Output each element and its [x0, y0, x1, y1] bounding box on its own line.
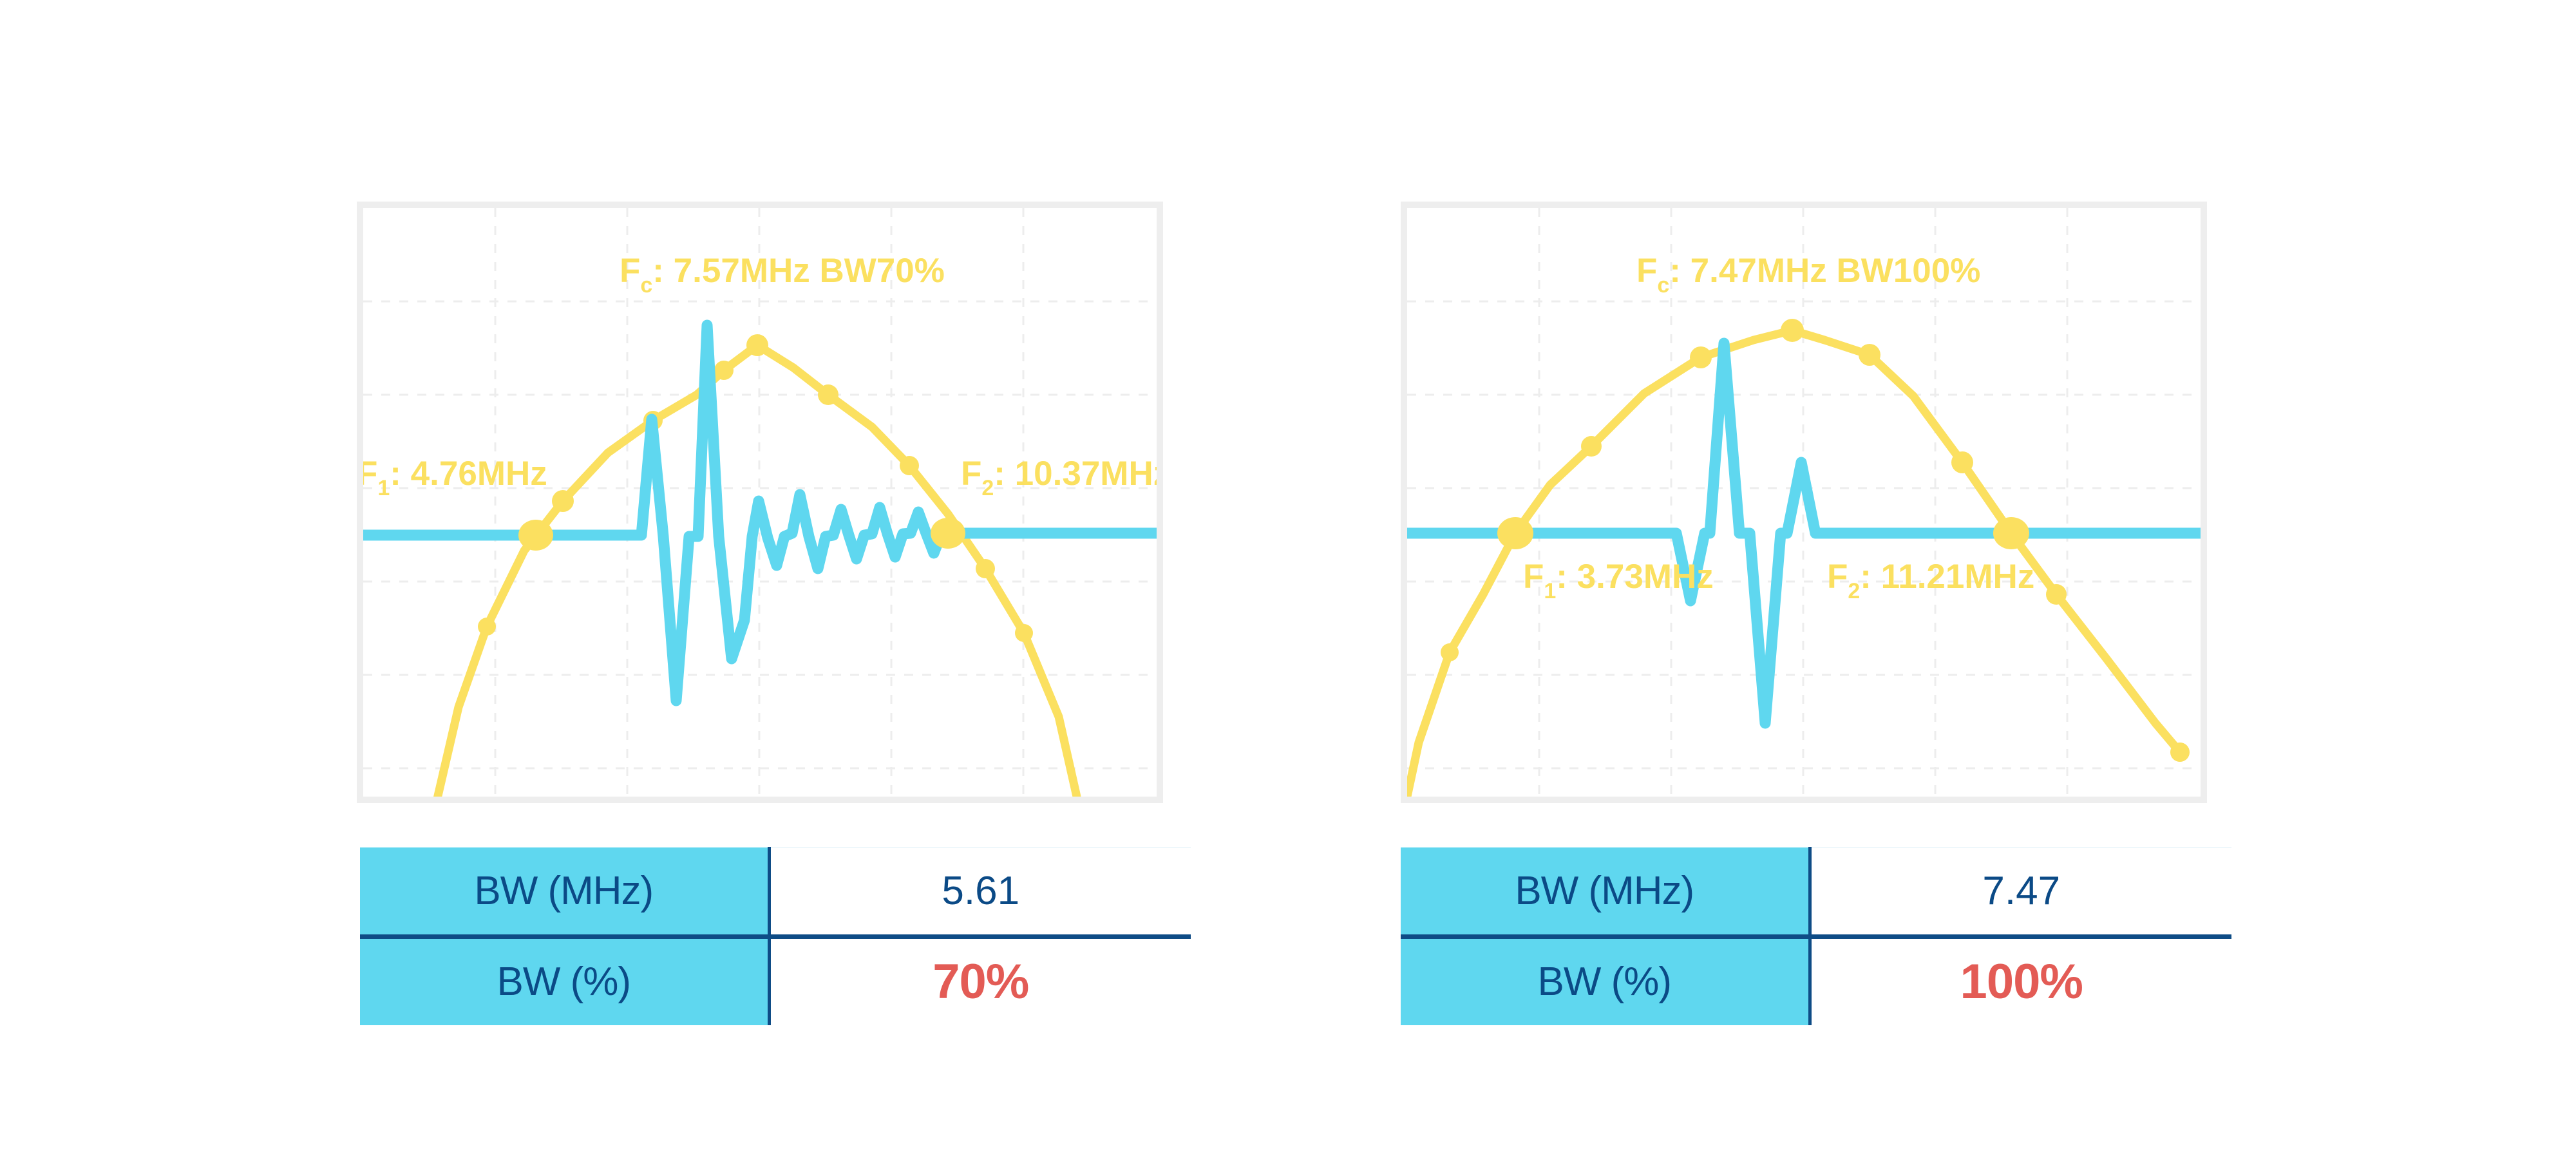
f1-text-left: : 4.76MHz [390, 455, 547, 493]
plot-area-left: Fc: 7.57MHz BW70% F1: 4.76MHz F2: 10.37M… [363, 208, 1157, 797]
figure-root: Fc: 7.57MHz BW70% F1: 4.76MHz F2: 10.37M… [0, 0, 2576, 1154]
f2-marker-right [1993, 517, 2029, 549]
f2-annotation-left: F2: 10.37MHz [961, 455, 1157, 500]
fc-sub-left: c [640, 273, 652, 298]
f2-text-left: : 10.37MHz [994, 455, 1157, 493]
fc-sub-right: c [1657, 273, 1669, 298]
chart-right: Fc: 7.47MHz BW100% F1: 3.73MHz F2: 11.21… [1407, 208, 2201, 797]
bw-pct-label-left: BW (%) [360, 936, 769, 1025]
f1-prefix-right: F [1523, 558, 1544, 596]
chart-frame-right: Fc: 7.47MHz BW100% F1: 3.73MHz F2: 11.21… [1401, 202, 2207, 803]
chart-frame-left: Fc: 7.57MHz BW70% F1: 4.76MHz F2: 10.37M… [357, 202, 1163, 803]
f2-annotation-right: F2: 11.21MHz [1827, 558, 2034, 603]
f2-text-right: : 11.21MHz [1860, 558, 2034, 596]
f1-marker-right [1497, 517, 1533, 549]
table-row: BW (MHz) 7.47 [1401, 847, 2231, 936]
f1-sub-right: 1 [1544, 579, 1556, 603]
bw-mhz-label-right: BW (MHz) [1401, 847, 1810, 936]
bw-pct-label-right: BW (%) [1401, 936, 1810, 1025]
bw-pct-value-left: 70% [769, 936, 1191, 1025]
f2-prefix-right: F [1827, 558, 1848, 596]
fc-prefix-right: F [1636, 252, 1657, 290]
f1-text-right: : 3.73MHz [1556, 558, 1713, 596]
f1-annotation-left: F1: 4.76MHz [363, 455, 547, 500]
fc-text-left: : 7.57MHz BW70% [652, 252, 945, 290]
fc-prefix-left: F [620, 252, 640, 290]
fc-annotation-right: Fc: 7.47MHz BW100% [1636, 252, 1980, 298]
fc-annotation-left: Fc: 7.57MHz BW70% [620, 252, 945, 298]
f2-sub-left: 2 [981, 476, 994, 500]
spectrum-markers-left [478, 334, 1033, 642]
bw-table-left: BW (MHz) 5.61 BW (%) 70% [360, 847, 1191, 1025]
table-row: BW (%) 100% [1401, 936, 2231, 1025]
table-row: BW (%) 70% [360, 936, 1191, 1025]
table-row: BW (MHz) 5.61 [360, 847, 1191, 936]
f2-marker-left [931, 518, 965, 549]
f1-prefix-left: F [363, 455, 377, 493]
bw-mhz-label-left: BW (MHz) [360, 847, 769, 936]
bw-mhz-value-right: 7.47 [1810, 847, 2231, 936]
f1-marker-left [518, 520, 553, 551]
f2-sub-right: 2 [1848, 579, 1860, 603]
fc-text-right: : 7.47MHz BW100% [1669, 252, 1980, 290]
plot-area-right: Fc: 7.47MHz BW100% F1: 3.73MHz F2: 11.21… [1407, 208, 2201, 797]
f2-prefix-left: F [961, 455, 981, 493]
chart-left: Fc: 7.57MHz BW70% F1: 4.76MHz F2: 10.37M… [363, 208, 1157, 797]
bw-pct-value-right: 100% [1810, 936, 2231, 1025]
spectrum-markers-right [1441, 319, 2190, 762]
f1-sub-left: 1 [377, 476, 390, 500]
bw-table-right: BW (MHz) 7.47 BW (%) 100% [1401, 847, 2231, 1025]
bw-mhz-value-left: 5.61 [769, 847, 1191, 936]
